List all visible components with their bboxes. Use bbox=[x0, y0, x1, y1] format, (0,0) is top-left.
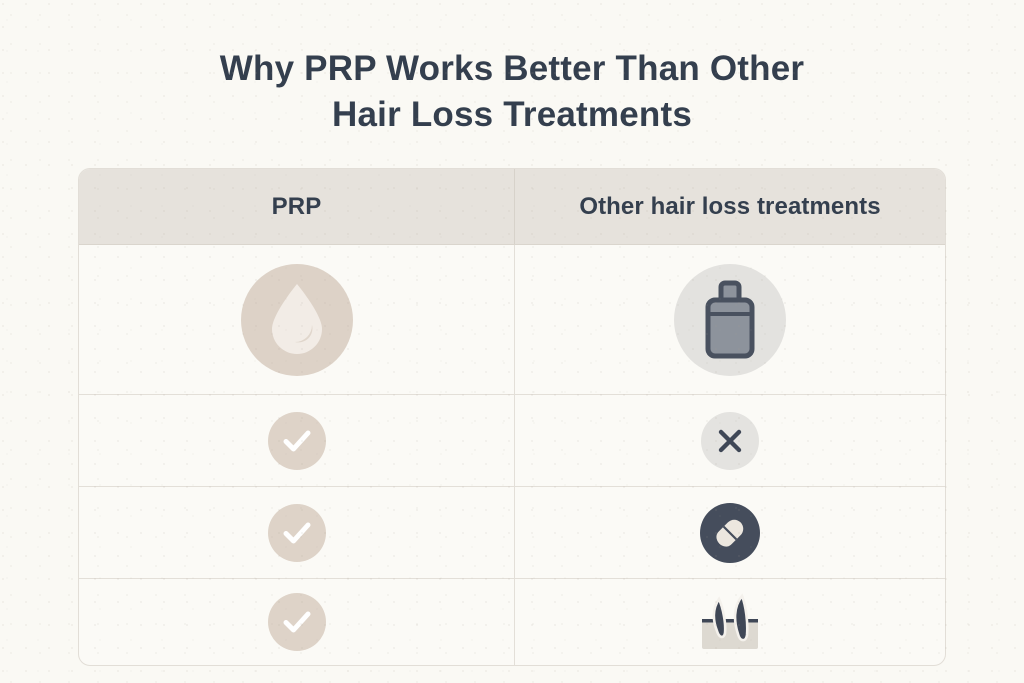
table-header-row: PRP Other hair loss treatments bbox=[79, 169, 945, 245]
page-title: Why PRP Works Better Than Other Hair Los… bbox=[0, 46, 1024, 138]
table-header-cell-prp: PRP bbox=[79, 169, 514, 244]
cell-other-hair-follicle-4 bbox=[514, 579, 945, 665]
check-icon bbox=[280, 605, 314, 639]
cell-other-cross-2 bbox=[514, 395, 945, 486]
table-row bbox=[79, 395, 945, 487]
check-icon-badge bbox=[268, 504, 326, 562]
table-row bbox=[79, 245, 945, 395]
cell-prp-treatment-type bbox=[79, 245, 514, 394]
table-row bbox=[79, 579, 945, 665]
cell-prp-check-4 bbox=[79, 579, 514, 665]
cell-prp-check-2 bbox=[79, 395, 514, 486]
cross-icon-badge bbox=[701, 412, 759, 470]
cross-icon bbox=[715, 426, 745, 456]
blood-drop-icon bbox=[265, 281, 329, 359]
pill-icon bbox=[699, 502, 761, 564]
check-icon bbox=[280, 424, 314, 458]
cell-prp-check-3 bbox=[79, 487, 514, 578]
bottle-icon bbox=[701, 280, 759, 360]
cell-other-pill-3 bbox=[514, 487, 945, 578]
check-icon-badge bbox=[268, 593, 326, 651]
page-title-line-1: Why PRP Works Better Than Other bbox=[0, 46, 1024, 92]
check-icon bbox=[280, 516, 314, 550]
comparison-table: PRP Other hair loss treatments bbox=[78, 168, 946, 666]
hair-follicle-icon bbox=[692, 591, 768, 653]
check-icon-badge bbox=[268, 412, 326, 470]
blood-drop-icon-badge bbox=[241, 264, 353, 376]
table-row bbox=[79, 487, 945, 579]
column-header-label-other: Other hair loss treatments bbox=[579, 193, 880, 221]
page-root: Why PRP Works Better Than Other Hair Los… bbox=[0, 0, 1024, 683]
cell-other-treatment-type bbox=[514, 245, 945, 394]
bottle-icon-badge bbox=[674, 264, 786, 376]
page-title-line-2: Hair Loss Treatments bbox=[0, 92, 1024, 138]
table-header-cell-other: Other hair loss treatments bbox=[514, 169, 945, 244]
column-header-label-prp: PRP bbox=[272, 193, 322, 221]
